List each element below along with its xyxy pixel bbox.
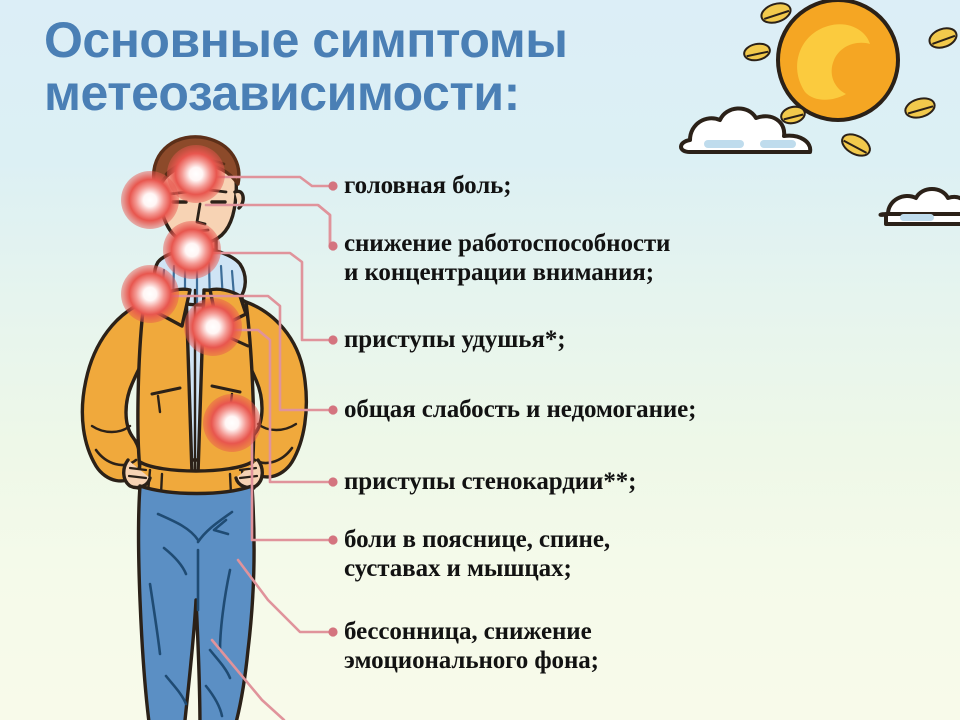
symptom-weakness: общая слабость и недомогание; <box>344 396 696 425</box>
pain-marker-throat <box>163 221 221 279</box>
symptom-back-pain: боли в пояснице, спине, суставах и мышца… <box>344 526 610 583</box>
infographic-poster: Основные симптомы метеозависимости: <box>0 0 960 720</box>
symptom-headache: головная боль; <box>344 172 512 201</box>
pain-marker-abdomen <box>203 394 261 452</box>
page-title: Основные симптомы метеозависимости: <box>44 14 704 120</box>
symptom-suffocation: приступы удушья*; <box>344 326 565 355</box>
pain-marker-shoulder <box>121 265 179 323</box>
pain-marker-chest <box>184 298 242 356</box>
symptom-angina: приступы стенокардии**; <box>344 468 636 497</box>
connector-dots <box>328 181 337 636</box>
symptom-performance: снижение работоспособности и концентраци… <box>344 230 670 287</box>
pain-marker-temple <box>121 171 179 229</box>
symptom-insomnia: бессонница, снижение эмоционального фона… <box>344 618 599 675</box>
